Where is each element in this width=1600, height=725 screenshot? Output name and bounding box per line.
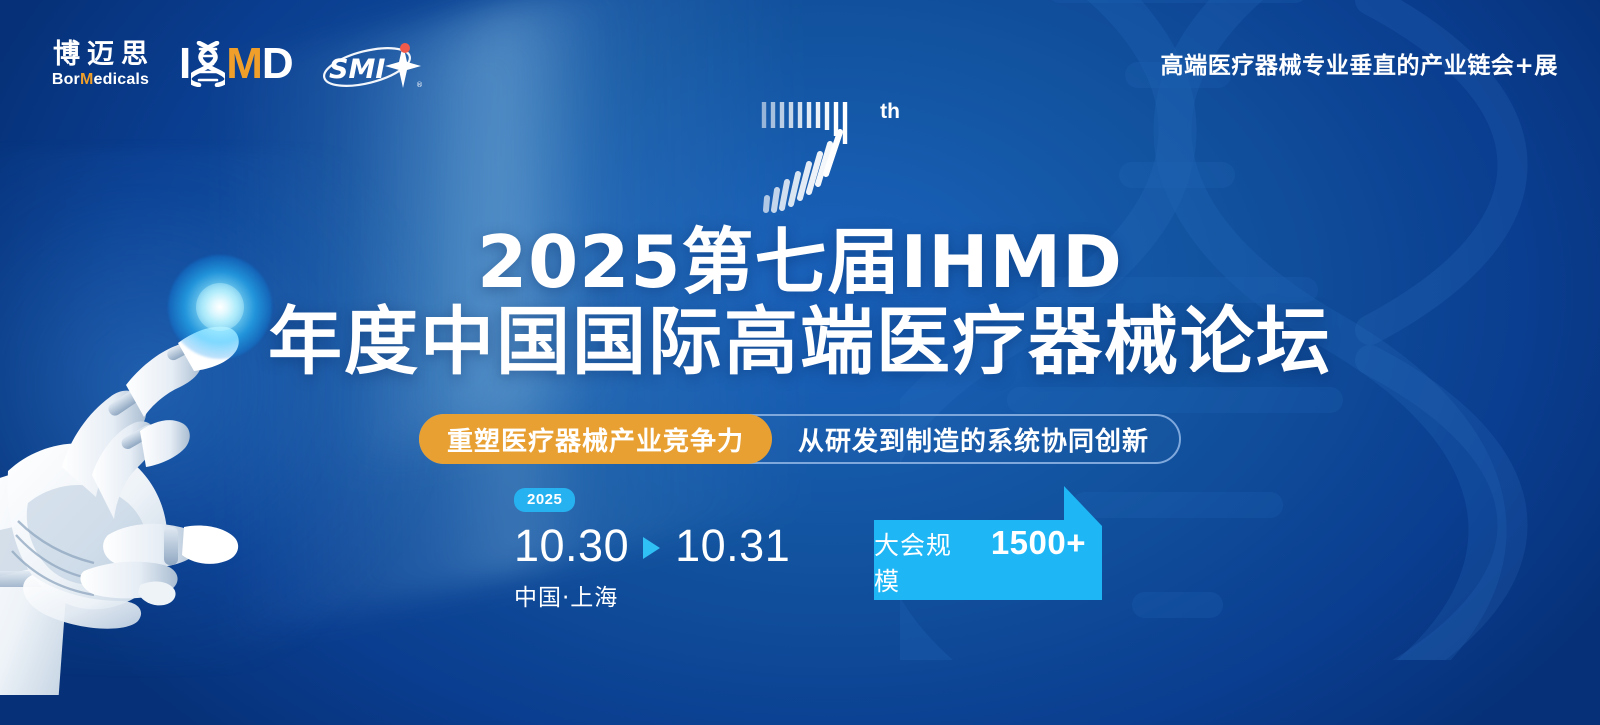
title-line-1: 2025第七届IHMD (0, 224, 1600, 300)
scale-label: 大会规模 (874, 526, 975, 598)
dna-helix-icon (191, 41, 225, 87)
bormedicals-en-pre: Bor (52, 71, 80, 88)
ihmd-logo: I M D (179, 41, 293, 87)
title-line-2: 年度中国国际高端医疗器械论坛 (0, 302, 1600, 383)
scale-value: 1500+ (991, 524, 1086, 562)
bormedicals-logo-en: BorMedicals (52, 72, 149, 88)
event-date-start: 10.30 (514, 520, 629, 572)
year-badge: 2025 (514, 488, 575, 512)
bormedicals-logo-cn: 博迈思 (46, 41, 155, 68)
subtitle-row: 重塑医疗器械产业竞争力 从研发到制造的系统协同创新 (0, 414, 1600, 464)
event-date-range: 10.30 10.31 (514, 520, 790, 572)
conference-scale-badge: 大会规模 1500+ (874, 486, 1102, 600)
ihmd-letter-d: D (262, 42, 293, 86)
title-block: 2025第七届IHMD 年度中国国际高端医疗器械论坛 (0, 224, 1600, 384)
scale-badge-text: 大会规模 1500+ (874, 524, 1086, 598)
conference-banner: 博迈思 BorMedicals I (0, 0, 1600, 725)
bormedicals-en-post: edicals (94, 71, 150, 88)
event-date-end: 10.31 (675, 520, 790, 572)
bormedicals-en-mid: M (80, 71, 94, 88)
logo-group: 博迈思 BorMedicals I (46, 38, 425, 90)
smi-registered-mark: ® (416, 81, 423, 89)
ihmd-letter-m: M (226, 42, 262, 86)
subtitle-secondary-text: 从研发到制造的系统协同创新 (798, 421, 1149, 458)
subtitle-outline-pill: 重塑医疗器械产业竞争力 从研发到制造的系统协同创新 (419, 414, 1181, 464)
subtitle-highlight-pill: 重塑医疗器械产业竞争力 (419, 414, 772, 464)
svg-text:SMI: SMI (329, 54, 385, 85)
ihmd-letter-i: I (179, 42, 190, 86)
event-date-block: 2025 10.30 10.31 中国·上海 (514, 488, 790, 612)
event-city: 中国·上海 (514, 578, 790, 612)
edition-suffix: th (880, 100, 900, 124)
smi-logo: SMI ® (317, 38, 425, 90)
bormedicals-logo: 博迈思 BorMedicals (46, 41, 155, 88)
edition-seven-mark: th (752, 88, 892, 218)
header-tagline: 高端医疗器械专业垂直的产业链会+展 (1161, 46, 1558, 80)
date-range-arrow-icon (643, 537, 660, 559)
